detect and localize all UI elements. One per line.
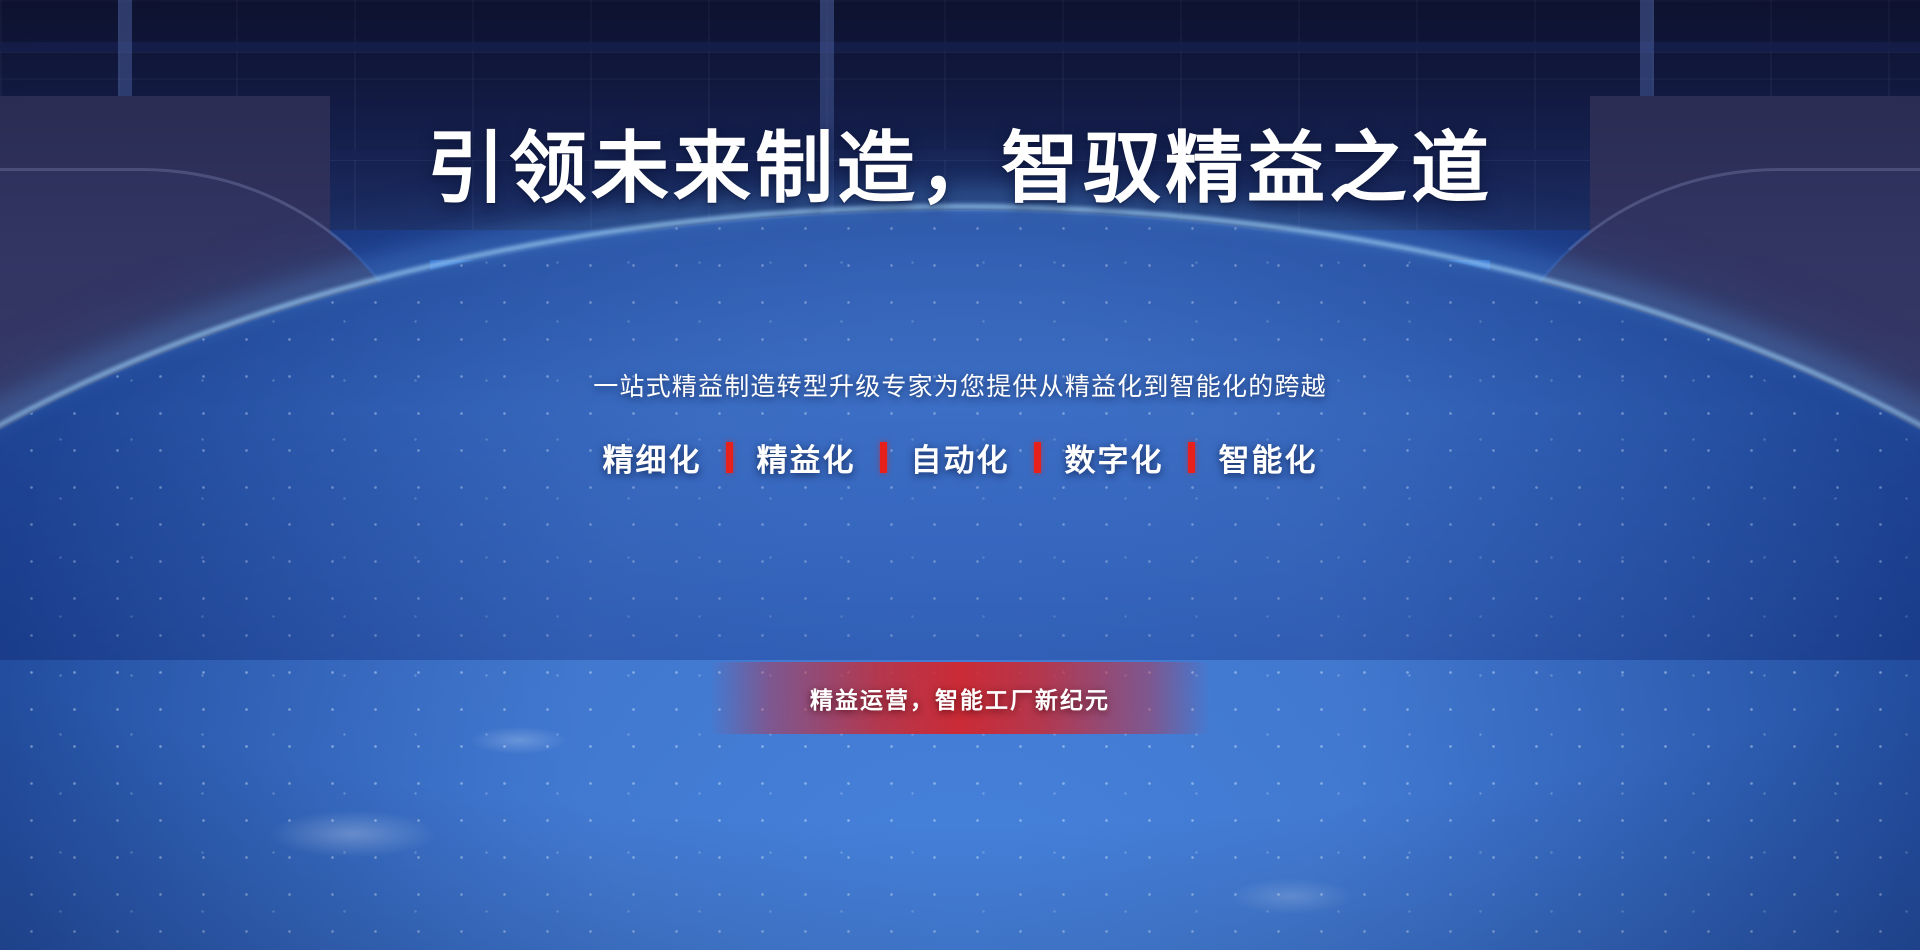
keyword-list: 精细化 精益化 自动化 数字化 智能化 — [0, 435, 1920, 480]
hero-banner: ENTERPRISE COURSE ENTERPRISE COURSE 技能道场… — [0, 0, 1920, 950]
keyword-item: 精细化 — [603, 435, 702, 480]
hero-content: 引领未来制造，智驭精益之道 一站式精益制造转型升级专家为您提供从精益化到智能化的… — [0, 0, 1920, 950]
keyword-item: 数字化 — [1065, 435, 1164, 480]
keyword-item: 智能化 — [1219, 435, 1318, 480]
keyword-separator-icon — [726, 442, 733, 473]
hero-subtitle: 一站式精益制造转型升级专家为您提供从精益化到智能化的跨越 — [0, 367, 1920, 403]
keyword-separator-icon — [880, 442, 887, 473]
keyword-item: 自动化 — [911, 435, 1010, 480]
tagline-ribbon: 精益运营，智能工厂新纪元 — [710, 662, 1210, 734]
keyword-item: 精益化 — [757, 435, 856, 480]
page-title: 引领未来制造，智驭精益之道 — [0, 128, 1920, 210]
keyword-separator-icon — [1188, 442, 1195, 473]
keyword-separator-icon — [1034, 442, 1041, 473]
tagline-text: 精益运营，智能工厂新纪元 — [810, 681, 1110, 715]
